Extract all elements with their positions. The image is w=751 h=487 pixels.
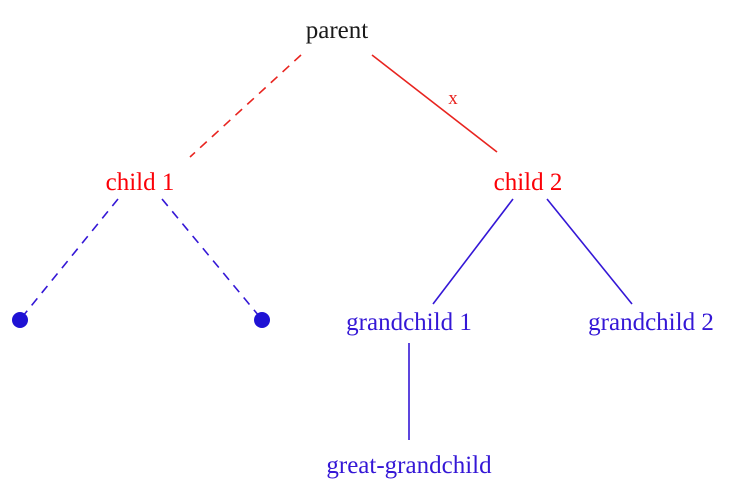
node-label-greatgrandchild: great-grandchild <box>326 452 492 479</box>
node-label-parent: parent <box>306 17 369 44</box>
node-label-child1: child 1 <box>106 169 175 196</box>
edge-labels-group: x <box>448 88 458 109</box>
node-label-child2: child 2 <box>494 169 563 196</box>
leaf-dot-left <box>12 312 28 328</box>
node-label-grandchild2: grandchild 2 <box>588 309 714 336</box>
edge-label-parent-to-child2: x <box>448 88 458 109</box>
node-label-grandchild1: grandchild 1 <box>346 309 472 336</box>
leaf-dot-right <box>254 312 270 328</box>
tree-diagram-canvas: parentchild 1child 2grandchild 1grandchi… <box>0 0 751 487</box>
diagram-background <box>0 0 751 487</box>
tree-diagram-svg: parentchild 1child 2grandchild 1grandchi… <box>0 0 751 487</box>
